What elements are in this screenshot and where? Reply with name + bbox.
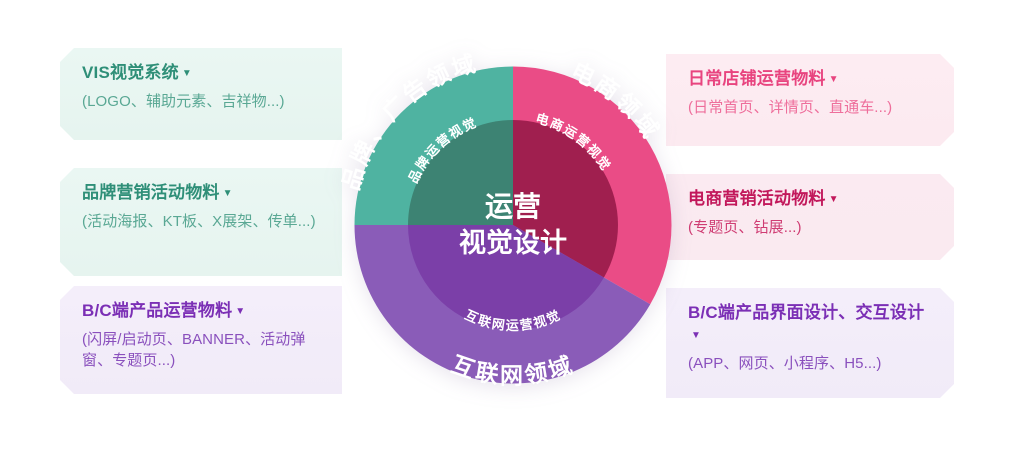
center-title-line1: 运营 — [485, 191, 541, 222]
chevron-down-icon[interactable]: ▼ — [223, 187, 233, 200]
card-title-text: B/C端产品界面设计、交互设计 — [688, 303, 924, 322]
card-title: 品牌营销活动物料▼ — [82, 182, 322, 204]
chevron-down-icon[interactable]: ▼ — [829, 193, 839, 206]
diagram-canvas: VIS视觉系统▼ (LOGO、辅助元素、吉祥物...) 品牌营销活动物料▼ (活… — [0, 0, 1010, 450]
chevron-down-icon[interactable]: ▼ — [829, 73, 839, 86]
center-title-line2: 视觉设计 — [459, 228, 567, 258]
card-ecommerce-marketing-materials[interactable]: 电商营销活动物料▼ (专题页、钻展...) — [666, 174, 954, 260]
card-bc-product-ui-interaction-design[interactable]: B/C端产品界面设计、交互设计▼ (APP、网页、小程序、H5...) — [666, 288, 954, 398]
card-title-text: B/C端产品运营物料 — [82, 301, 232, 320]
card-title: B/C端产品运营物料▼ — [82, 300, 322, 322]
card-brand-marketing-materials[interactable]: 品牌营销活动物料▼ (活动海报、KT板、X展架、传单...) — [60, 168, 342, 276]
card-title: 日常店铺运营物料▼ — [688, 68, 934, 90]
card-subtitle: (专题页、钻展...) — [688, 217, 934, 238]
card-title-text: 电商营销活动物料 — [688, 189, 826, 208]
card-title: VIS视觉系统▼ — [82, 62, 322, 84]
chevron-down-icon[interactable]: ▼ — [235, 305, 245, 318]
chevron-down-icon[interactable]: ▼ — [182, 67, 192, 80]
donut-chart: 品牌、广告领域 电商领域 互联网领域 品牌运营视觉 电商运营视觉 互联网运营视觉… — [318, 30, 708, 420]
card-title: B/C端产品界面设计、交互设计▼ — [688, 302, 934, 346]
card-vis-visual-system[interactable]: VIS视觉系统▼ (LOGO、辅助元素、吉祥物...) — [60, 48, 342, 140]
card-subtitle: (闪屏/启动页、BANNER、活动弹窗、专题页...) — [82, 329, 322, 372]
card-subtitle: (活动海报、KT板、X展架、传单...) — [82, 211, 322, 232]
donut-svg: 品牌、广告领域 电商领域 互联网领域 品牌运营视觉 电商运营视觉 互联网运营视觉… — [318, 30, 708, 420]
card-title: 电商营销活动物料▼ — [688, 188, 934, 210]
card-title-text: VIS视觉系统 — [82, 63, 179, 82]
card-subtitle: (APP、网页、小程序、H5...) — [688, 353, 934, 374]
card-daily-shop-ops-materials[interactable]: 日常店铺运营物料▼ (日常首页、详情页、直通车...) — [666, 54, 954, 146]
card-bc-product-ops-materials[interactable]: B/C端产品运营物料▼ (闪屏/启动页、BANNER、活动弹窗、专题页...) — [60, 286, 342, 394]
card-subtitle: (日常首页、详情页、直通车...) — [688, 97, 934, 118]
card-title-text: 日常店铺运营物料 — [688, 69, 826, 88]
card-title-text: 品牌营销活动物料 — [82, 183, 220, 202]
card-subtitle: (LOGO、辅助元素、吉祥物...) — [82, 91, 322, 112]
